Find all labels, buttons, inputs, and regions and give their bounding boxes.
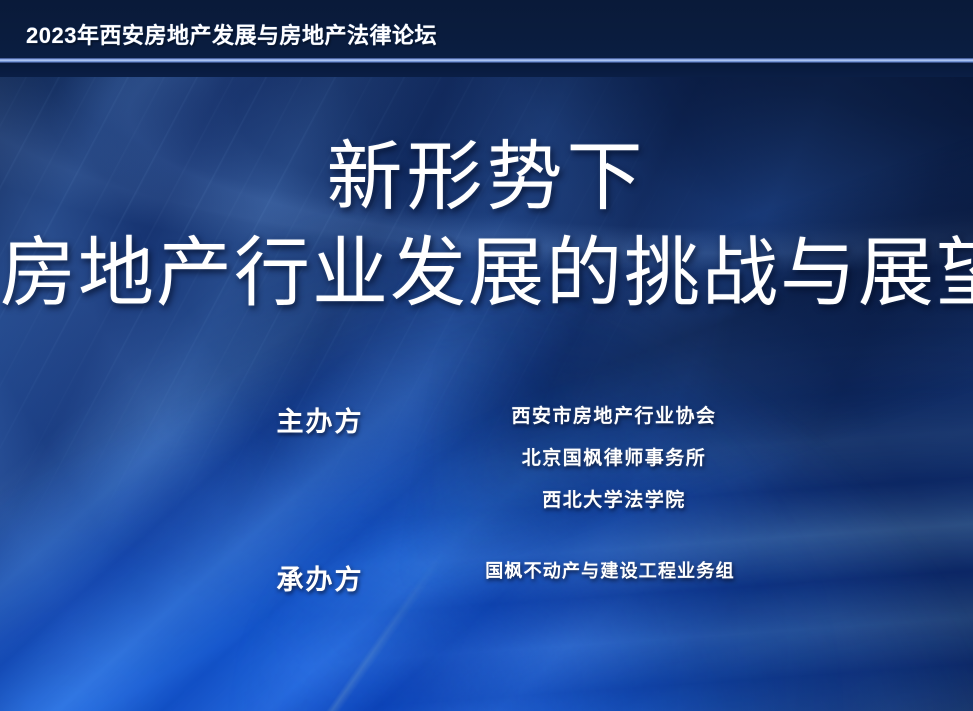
- organizer-role-label: 主办方: [255, 400, 385, 439]
- slide-content: 新形势下 房地产行业发展的挑战与展望 主办方 西安市房地产行业协会 北京国枫律师…: [0, 0, 973, 711]
- organizer-list: 西安市房地产行业协会 北京国枫律师事务所 西北大学法学院: [389, 396, 839, 522]
- host-list: 国枫不动产与建设工程业务组: [385, 557, 835, 585]
- organizer-item: 西北大学法学院: [389, 480, 839, 522]
- main-title-line-1: 新形势下: [0, 140, 973, 216]
- forum-header-title: 2023年西安房地产发展与房地产法律论坛: [26, 18, 437, 50]
- host-role-label: 承办方: [255, 558, 385, 597]
- host-item: 国枫不动产与建设工程业务组: [385, 557, 835, 585]
- organizer-item: 西安市房地产行业协会: [389, 396, 839, 438]
- header-divider-rule: [0, 58, 973, 63]
- presentation-slide: 2023年西安房地产发展与房地产法律论坛 新形势下 房地产行业发展的挑战与展望 …: [0, 0, 973, 711]
- organizer-item: 北京国枫律师事务所: [389, 438, 839, 480]
- header-under-band: [0, 63, 973, 77]
- main-title-line-2: 房地产行业发展的挑战与展望: [0, 236, 973, 312]
